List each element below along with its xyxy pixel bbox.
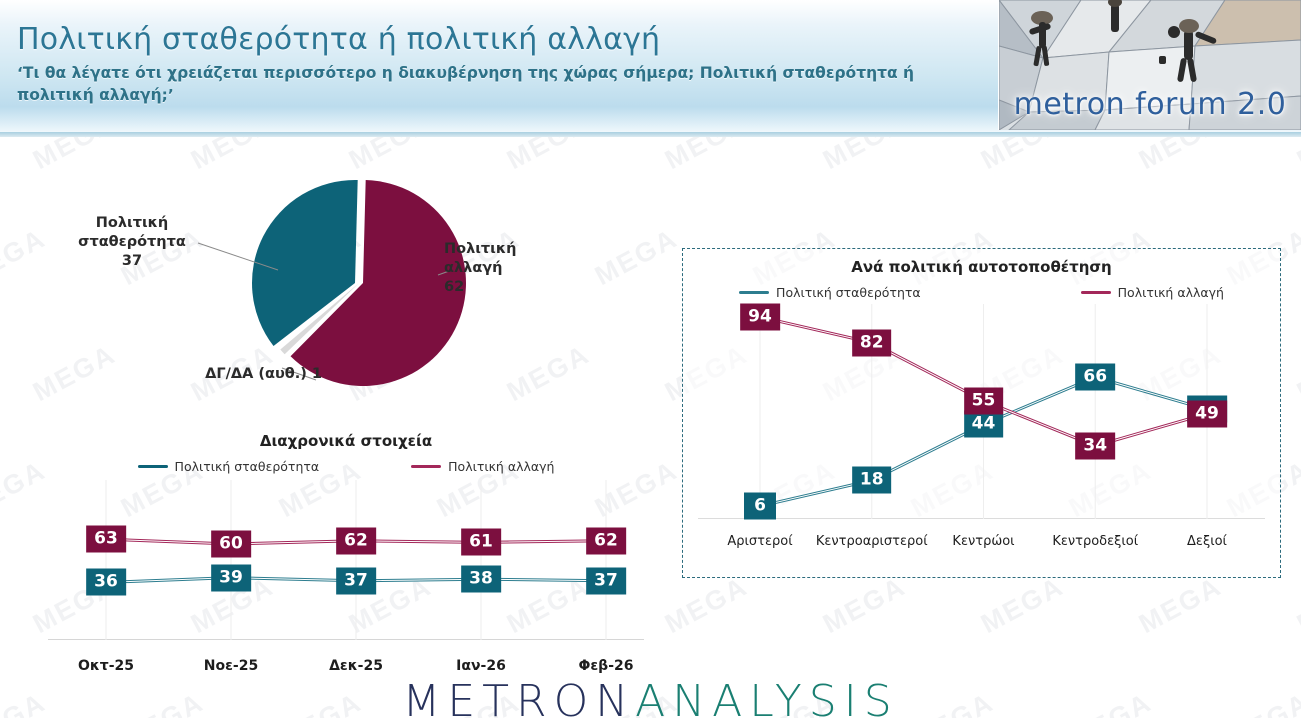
data-label: 60 bbox=[211, 531, 251, 558]
timeline-chart-title: Διαχρονικά στοιχεία bbox=[48, 432, 644, 450]
legend-line-change-icon-2 bbox=[1081, 291, 1111, 294]
data-label: 62 bbox=[336, 527, 376, 554]
data-label: 37 bbox=[336, 567, 376, 594]
data-label: 49 bbox=[1187, 400, 1227, 427]
legend-item-change-2[interactable]: Πολιτική αλλαγή bbox=[1081, 285, 1224, 300]
self-placement-legend: Πολιτική σταθερότητα Πολιτική αλλαγή bbox=[683, 285, 1280, 300]
legend-line-stability-icon-2 bbox=[739, 291, 769, 294]
metron-forum-logo: metron forum 2.0 bbox=[998, 0, 1301, 130]
slide-header: Πολιτική σταθερότητα ή πολιτική αλλαγή ‘… bbox=[0, 0, 1301, 137]
pie-slices bbox=[252, 180, 466, 386]
watermark-text: MEGA bbox=[1292, 339, 1301, 408]
data-label: 63 bbox=[86, 526, 126, 553]
slide-root: MEGAMEGAMEGAMEGAMEGAMEGAMEGAMEGAMEGAMEGA… bbox=[0, 0, 1301, 718]
legend-item-change[interactable]: Πολιτική αλλαγή bbox=[411, 459, 554, 474]
footer: METRONANALYSIS bbox=[0, 660, 1301, 718]
self-placement-chart-title: Ανά πολιτική αυτοτοποθέτηση bbox=[683, 258, 1280, 276]
self-placement-chart: Ανά πολιτική αυτοτοποθέτηση Πολιτική στα… bbox=[682, 248, 1281, 578]
self-placement-plot-area: 6184466519482553449ΑριστεροίΚεντροαριστε… bbox=[698, 304, 1265, 519]
data-label: 37 bbox=[586, 567, 626, 594]
timeline-chart: Διαχρονικά στοιχεία Πολιτική σταθερότητα… bbox=[48, 432, 644, 672]
axis-category-label: Δεξιοί bbox=[1187, 534, 1227, 549]
logo-wordmark: metron forum 2.0 bbox=[999, 87, 1301, 122]
watermark-text: MEGA bbox=[1292, 571, 1301, 640]
metron-analysis-logo: METRONANALYSIS bbox=[402, 680, 898, 718]
legend-line-stability-icon bbox=[138, 465, 168, 468]
data-label: 39 bbox=[211, 564, 251, 591]
legend-line-change-icon bbox=[411, 465, 441, 468]
axis-category-label: Αριστεροί bbox=[727, 534, 792, 549]
axis-category-label: Κεντροδεξιοί bbox=[1052, 534, 1138, 549]
watermark-text: MEGA bbox=[590, 223, 683, 292]
legend-label-stability: Πολιτική σταθερότητα bbox=[175, 459, 320, 474]
data-label: 62 bbox=[586, 527, 626, 554]
data-label: 38 bbox=[461, 566, 501, 593]
data-label: 61 bbox=[461, 529, 501, 556]
data-label: 34 bbox=[1075, 432, 1115, 459]
data-label: 6 bbox=[744, 493, 776, 520]
page-title: Πολιτική σταθερότητα ή πολιτική αλλαγή bbox=[17, 24, 977, 56]
pie-label-stability-text: Πολιτική σταθερότητα bbox=[78, 215, 186, 250]
data-label: 66 bbox=[1075, 364, 1115, 391]
timeline-plot-area: 36393738376360626162Οκτ-25Νοε-25Δεκ-25Ια… bbox=[48, 480, 644, 640]
watermark-text: MEGA bbox=[0, 455, 51, 524]
legend-label-change-2: Πολιτική αλλαγή bbox=[1118, 285, 1224, 300]
data-label: 82 bbox=[852, 329, 892, 356]
legend-label-change: Πολιτική αλλαγή bbox=[448, 459, 554, 474]
pie-label-stability-value: 37 bbox=[122, 253, 142, 269]
pie-label-change-text: Πολιτική αλλαγή bbox=[444, 241, 516, 276]
pie-label-change: Πολιτική αλλαγή 62 bbox=[444, 240, 564, 297]
legend-item-stability-2[interactable]: Πολιτική σταθερότητα bbox=[739, 285, 921, 300]
timeline-legend: Πολιτική σταθερότητα Πολιτική αλλαγή bbox=[48, 459, 644, 474]
timeline-svg bbox=[48, 480, 644, 640]
data-label: 55 bbox=[964, 387, 1004, 414]
axis-category-label: Κεντροαριστεροί bbox=[816, 534, 928, 549]
legend-item-stability[interactable]: Πολιτική σταθερότητα bbox=[138, 459, 320, 474]
pie-label-stability: Πολιτική σταθερότητα 37 bbox=[62, 214, 202, 271]
legend-label-stability-2: Πολιτική σταθερότητα bbox=[776, 285, 921, 300]
header-text-block: Πολιτική σταθερότητα ή πολιτική αλλαγή ‘… bbox=[17, 24, 977, 106]
pie-label-change-value: 62 bbox=[444, 279, 464, 295]
overall-pie-chart: Πολιτική σταθερότητα 37 Πολιτική αλλαγή … bbox=[40, 150, 600, 415]
data-label: 44 bbox=[964, 411, 1004, 438]
data-label: 18 bbox=[852, 467, 892, 494]
data-label: 94 bbox=[740, 303, 780, 330]
page-subtitle: ‘Τι θα λέγατε ότι χρειάζεται περισσότερο… bbox=[17, 62, 977, 106]
axis-category-label: Κεντρώοι bbox=[952, 534, 1014, 549]
pie-label-dk: ΔΓ/ΔΑ (αυθ.) 1 bbox=[132, 365, 322, 384]
data-label: 36 bbox=[86, 569, 126, 596]
brand-metron: METRON bbox=[402, 676, 635, 718]
brand-analysis: ANALYSIS bbox=[635, 676, 899, 718]
